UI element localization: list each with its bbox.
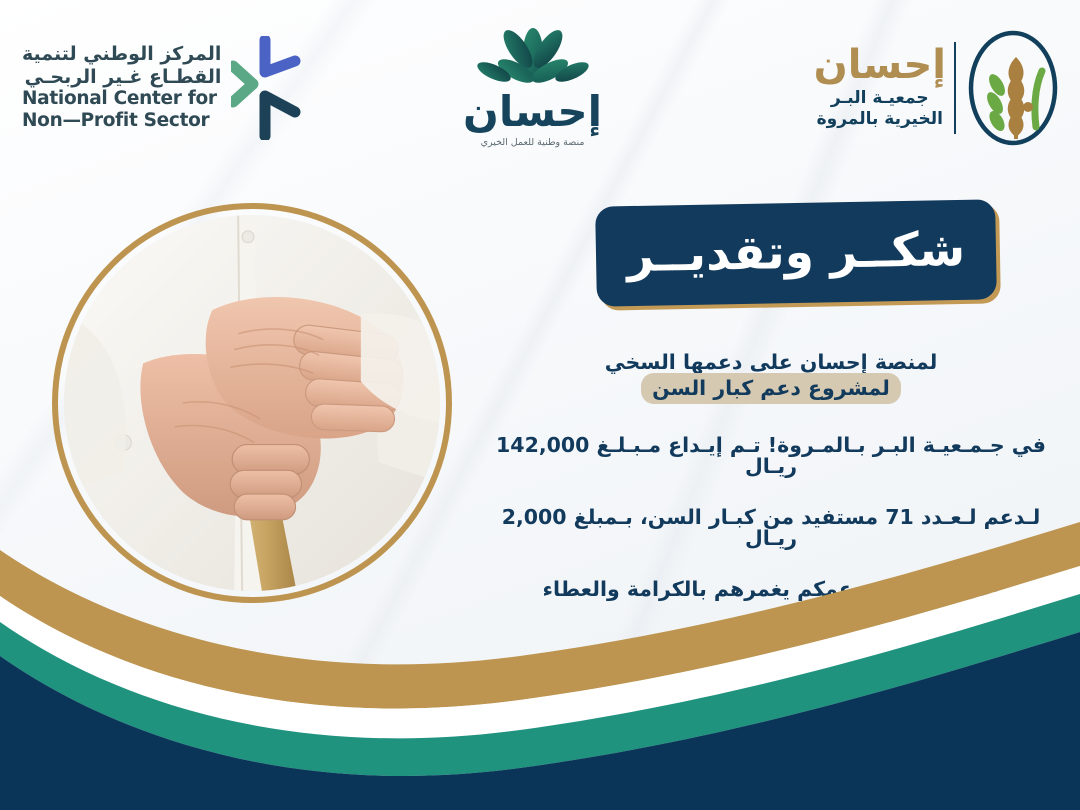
title-banner: شكــر وتقديــر (596, 203, 1006, 311)
message-line-1: لمنصة إحسان على دعمها السخي لمشروع دعم ك… (484, 352, 1058, 404)
ncnp-english-line-2: Non—Profit Sector (22, 110, 221, 132)
marwa-wordmark: إحسان (814, 45, 946, 85)
logo-bar: المركز الوطني لتنمية القطـاع غـير الربحـ… (0, 0, 1080, 175)
marwa-line-2: الخيرية بالمروة (814, 109, 946, 130)
logo-national-center-nonprofit-sector: المركز الوطني لتنمية القطـاع غـير الربحـ… (22, 36, 307, 140)
marwa-wheat-emblem-icon (964, 27, 1062, 149)
logo-al-birr-charity-almarwa: إحسان جمعيـة البـر الخيرية بالمروة (806, 27, 1062, 149)
thank-you-card: المركز الوطني لتنمية القطـاع غـير الربحـ… (0, 0, 1080, 810)
message-line-2: في جـمـعيـة البـر بـالمـروة! تـم إيـداع … (484, 435, 1058, 476)
ncnp-chevron-mark-icon (231, 36, 307, 140)
ehsan-wordmark: إحسان (463, 91, 602, 133)
ncnp-english-line-1: National Center for (22, 88, 221, 110)
ncnp-text-block: المركز الوطني لتنمية القطـاع غـير الربحـ… (22, 43, 221, 131)
ncnp-arabic-line-1: المركز الوطني لتنمية (22, 43, 221, 65)
ehsan-leaves-icon (474, 27, 592, 89)
marwa-divider (954, 42, 956, 134)
bottom-wave-decoration (0, 510, 1080, 810)
banner-navy-plate: شكــر وتقديــر (595, 199, 997, 306)
message-line-1-highlight: لمشروع دعم كبار السن (641, 373, 901, 405)
message-line-1-prefix: لمنصة إحسان على دعمها السخي (605, 350, 938, 374)
ncnp-arabic-line-2: القطـاع غـير الربحـي (22, 66, 221, 88)
banner-title-text: شكــر وتقديــر (627, 225, 966, 278)
ehsan-subtitle: منصة وطنية للعمل الخيري (481, 137, 585, 148)
logo-ehsan-platform: إحسان منصة وطنية للعمل الخيري (463, 27, 602, 148)
marwa-text-block: إحسان جمعيـة البـر الخيرية بالمروة (806, 45, 946, 129)
marwa-line-1: جمعيـة البـر (814, 88, 946, 109)
